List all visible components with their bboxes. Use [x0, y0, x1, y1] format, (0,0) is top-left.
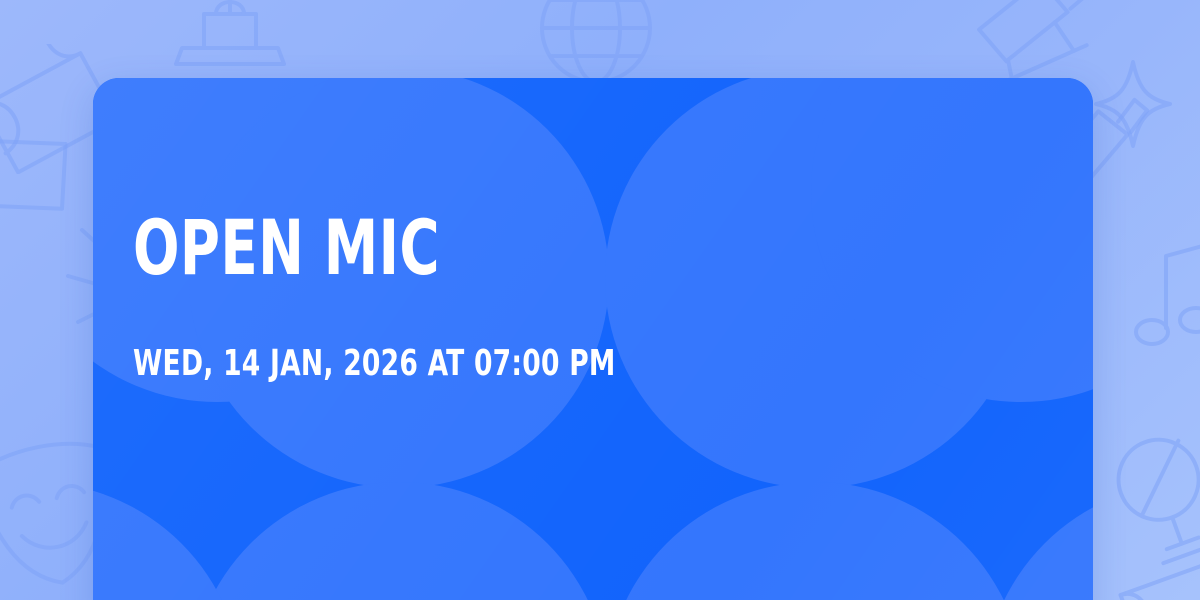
ticket-icon: [0, 120, 74, 230]
microphone-icon: [1108, 424, 1200, 574]
ticket-icon: [1114, 560, 1200, 600]
podium-icon: [160, 0, 300, 80]
music-note-icon: [1128, 236, 1200, 356]
event-title: OPEN MIC: [133, 210, 440, 286]
event-banner: OPEN MIC WED, 14 JAN, 2026 AT 07:00 PM: [0, 0, 1200, 600]
stage-light-icon: [960, 0, 1110, 80]
event-card[interactable]: OPEN MIC WED, 14 JAN, 2026 AT 07:00 PM: [93, 78, 1093, 600]
globe-icon: [534, 0, 658, 90]
sparkle-icon: [1090, 56, 1176, 152]
event-datetime: WED, 14 JAN, 2026 AT 07:00 PM: [133, 346, 616, 382]
event-card-content: OPEN MIC WED, 14 JAN, 2026 AT 07:00 PM: [133, 78, 1053, 600]
